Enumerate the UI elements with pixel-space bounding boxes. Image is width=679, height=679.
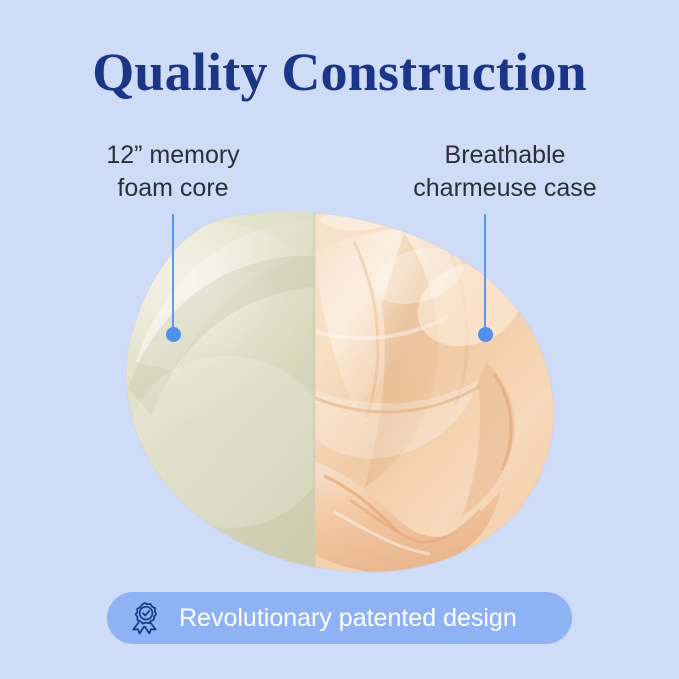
- leader-dot-memory-foam: [166, 327, 181, 342]
- leader-dot-charmeuse-case: [478, 327, 493, 342]
- page-title: Quality Construction: [0, 40, 679, 104]
- infographic-canvas: Quality Construction 12” memory foam cor…: [0, 0, 679, 679]
- feature-badge: Revolutionary patented design: [107, 592, 572, 644]
- callout-label-charmeuse-case-line1: Breathable: [375, 139, 635, 172]
- pillow-case-half: [308, 212, 564, 574]
- leader-line-memory-foam: [172, 214, 174, 334]
- leader-line-charmeuse-case: [484, 214, 486, 334]
- callout-label-memory-foam-line2: foam core: [43, 172, 303, 205]
- callout-label-memory-foam: 12” memory foam core: [43, 139, 303, 205]
- pillow-split-seam: [313, 212, 316, 574]
- pillow-illustration: [118, 212, 564, 574]
- pillow-foam-half: [118, 212, 338, 574]
- feature-badge-label: Revolutionary patented design: [179, 603, 517, 633]
- callout-label-charmeuse-case: Breathable charmeuse case: [375, 139, 635, 205]
- callout-label-charmeuse-case-line2: charmeuse case: [375, 172, 635, 205]
- award-rosette-check-icon: [129, 601, 163, 635]
- callout-label-memory-foam-line1: 12” memory: [43, 139, 303, 172]
